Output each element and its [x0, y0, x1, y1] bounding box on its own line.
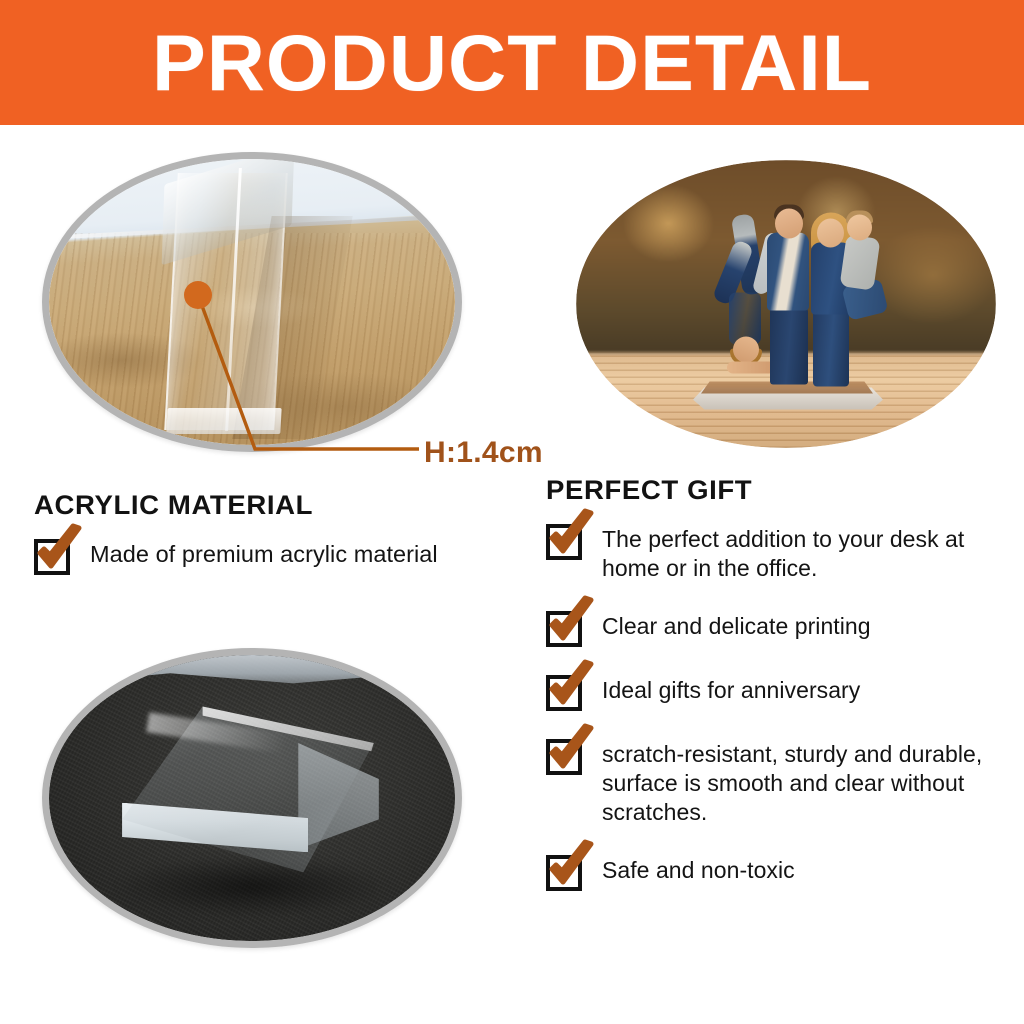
list-item-text: Made of premium acrylic material: [90, 537, 438, 570]
upside-down-child-hands: [727, 362, 775, 374]
list-item: Clear and delicate printing: [546, 609, 1006, 647]
section-perfect-gift: PERFECT GIFT The perfect addition to you…: [546, 477, 1006, 891]
list-item-text: Safe and non-toxic: [602, 853, 795, 885]
list-item: Safe and non-toxic: [546, 853, 1006, 891]
acrylic-block-shape: [122, 706, 374, 872]
callout-height-label: H:1.4cm: [424, 436, 543, 470]
checkmark-icon: [546, 524, 582, 560]
page-header-banner: PRODUCT DETAIL: [0, 0, 1024, 125]
photo-acrylic-edge-inner: [49, 159, 455, 445]
heading-perfect-gift: PERFECT GIFT: [546, 477, 1015, 504]
check-tick-icon: [545, 598, 597, 648]
figurine-group: [671, 197, 901, 412]
check-tick-icon: [545, 511, 597, 561]
photo-family-figurine: [576, 160, 996, 448]
page-title: PRODUCT DETAIL: [152, 23, 872, 102]
photo-family-figurine-inner: [576, 160, 996, 448]
list-item: Made of premium acrylic material: [34, 537, 534, 575]
list-item-text: Ideal gifts for anniversary: [602, 673, 860, 705]
checkmark-icon: [546, 675, 582, 711]
photo-acrylic-edge: [42, 152, 462, 452]
product-detail-page: PRODUCT DETAIL: [0, 0, 1024, 1024]
check-tick-icon: [545, 662, 597, 712]
list-item-text: Clear and delicate printing: [602, 609, 871, 641]
heading-acrylic-material: ACRYLIC MATERIAL: [34, 492, 544, 519]
mother-head: [817, 219, 844, 248]
section-acrylic-material: ACRYLIC MATERIAL Made of premium acrylic…: [34, 492, 534, 575]
acrylic-block-base: [166, 408, 281, 434]
checkmark-icon: [546, 739, 582, 775]
list-item-text: scratch-resistant, sturdy and durable, s…: [602, 737, 1006, 827]
photo-acrylic-block-inner: [49, 655, 455, 941]
father-torso: [767, 233, 809, 311]
upside-down-child-head: [733, 337, 759, 363]
boy-head: [847, 215, 872, 241]
father-legs: [770, 307, 808, 385]
list-item-text: The perfect addition to your desk at hom…: [602, 522, 1006, 583]
checkmark-icon: [546, 611, 582, 647]
photo-acrylic-block: [42, 648, 462, 948]
mother-legs: [813, 311, 849, 387]
check-tick-icon: [545, 726, 597, 776]
check-tick-icon: [545, 842, 597, 892]
list-item: scratch-resistant, sturdy and durable, s…: [546, 737, 1006, 827]
father-head: [775, 209, 803, 239]
check-tick-icon: [33, 526, 85, 576]
checkmark-icon: [34, 539, 70, 575]
checkmark-icon: [546, 855, 582, 891]
list-item: Ideal gifts for anniversary: [546, 673, 1006, 711]
list-item: The perfect addition to your desk at hom…: [546, 522, 1006, 583]
boy-torso: [840, 234, 881, 290]
